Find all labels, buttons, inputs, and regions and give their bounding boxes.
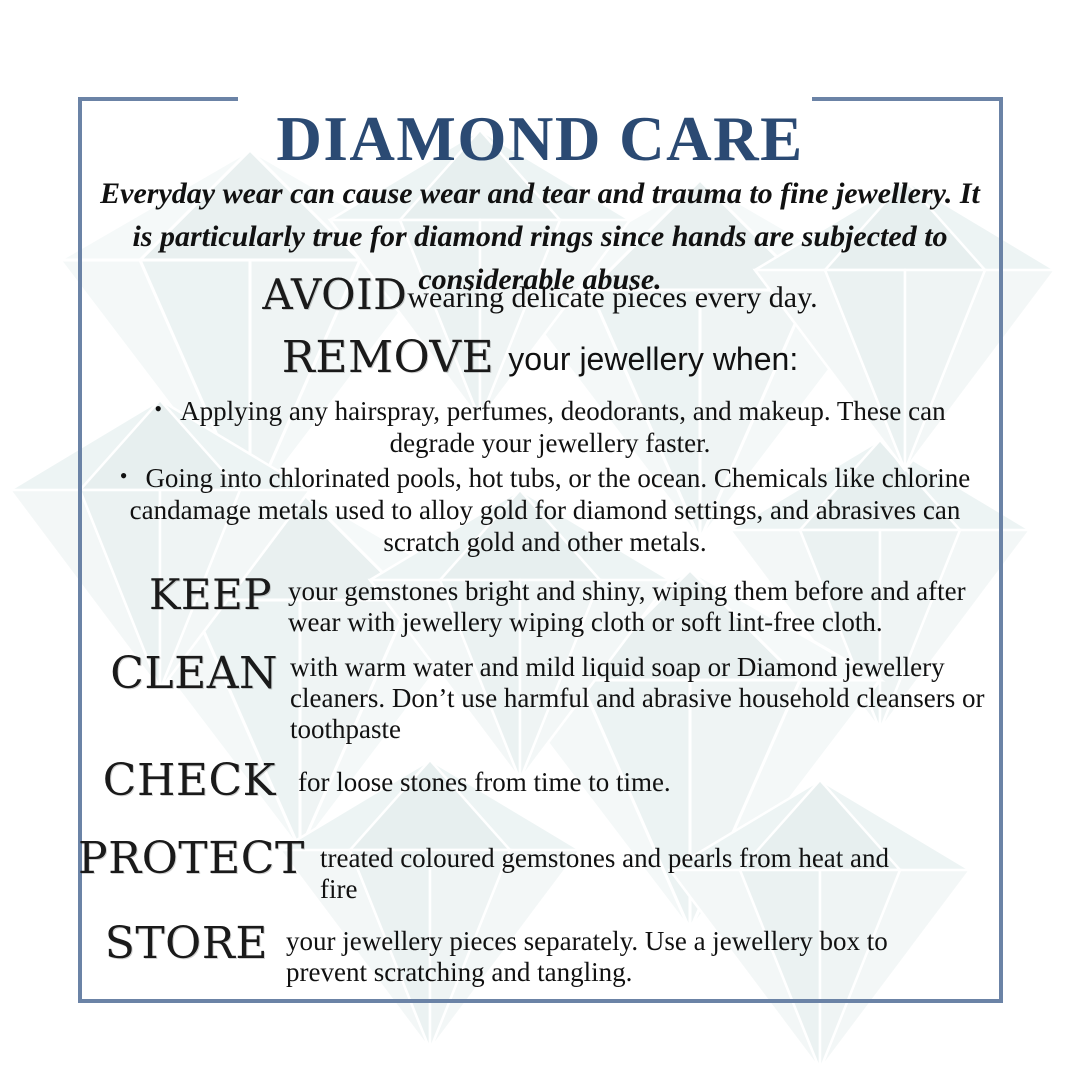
tip-row-check: CHECK for loose stones from time to time…	[80, 755, 840, 806]
tip-row-clean: CLEAN with warm water and mild liquid so…	[92, 648, 992, 745]
tip-row-store: STORE your jewellery pieces separately. …	[84, 918, 974, 988]
tip-text: treated coloured gemstones and pearls fr…	[304, 833, 908, 905]
remove-section: REMOVEyour jewellery when:	[0, 332, 1080, 383]
tip-keyword: CHECK	[80, 755, 276, 806]
diamond-care-poster: DIAMOND CARE Everyday wear can cause wea…	[0, 0, 1080, 1080]
bullet-dot-icon: •	[154, 396, 162, 421]
tip-keyword: KEEP	[92, 570, 272, 619]
list-item-text: Going into chlorinated pools, hot tubs, …	[130, 463, 971, 557]
tip-text: with warm water and mild liquid soap or …	[278, 648, 992, 745]
bullet-dot-icon: •	[120, 463, 128, 488]
tip-text: your jewellery pieces separately. Use a …	[268, 918, 974, 988]
remove-keyword: REMOVE	[282, 332, 495, 383]
list-item: •Applying any hairspray, perfumes, deodo…	[120, 393, 980, 459]
list-item-text: Applying any hairspray, perfumes, deodor…	[180, 396, 946, 458]
list-item: •Going into chlorinated pools, hot tubs,…	[105, 460, 985, 558]
remove-text: your jewellery when:	[508, 341, 798, 377]
page-title: DIAMOND CARE	[0, 106, 1080, 172]
tip-keyword: PROTECT	[78, 833, 304, 884]
tip-keyword: CLEAN	[92, 648, 278, 699]
avoid-section: AVOIDwearing delicate pieces every day.	[0, 270, 1080, 319]
tip-row-keep: KEEP your gemstones bright and shiny, wi…	[92, 570, 982, 638]
avoid-keyword: AVOID	[262, 270, 407, 319]
tip-row-protect: PROTECT treated coloured gemstones and p…	[78, 833, 908, 905]
tip-text: your gemstones bright and shiny, wiping …	[272, 570, 982, 638]
tip-keyword: STORE	[84, 918, 268, 969]
tip-text: for loose stones from time to time.	[276, 755, 840, 798]
avoid-text: wearing delicate pieces every day.	[407, 281, 817, 314]
